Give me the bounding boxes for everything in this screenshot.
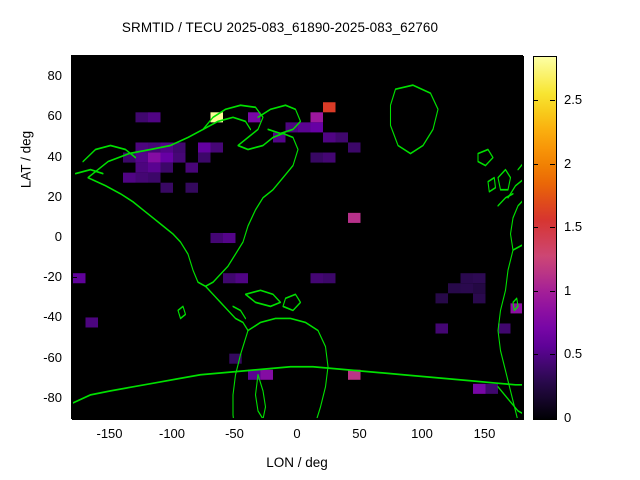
x-tick-mark <box>297 413 298 418</box>
colorbar-tick-mark <box>533 418 538 419</box>
colorbar-tick-mark <box>550 227 555 228</box>
chart-canvas: SRMTID / TECU 2025-083_61890-2025-083_62… <box>0 0 640 480</box>
y-tick-mark <box>72 116 77 117</box>
y-tick-mark <box>72 317 77 318</box>
x-tick-label: -100 <box>137 426 207 441</box>
colorbar-tick-mark <box>533 164 538 165</box>
colorbar-tick-mark <box>550 418 555 419</box>
x-tick-mark <box>235 413 236 418</box>
y-tick-label: 0 <box>2 229 62 244</box>
x-tick-mark <box>360 56 361 61</box>
x-tick-mark <box>297 56 298 61</box>
y-tick-mark <box>517 116 522 117</box>
colorbar-tick-label: 0.5 <box>564 346 604 361</box>
colorbar-tick-label: 2 <box>564 156 604 171</box>
y-tick-mark <box>72 76 77 77</box>
x-tick-mark <box>235 56 236 61</box>
chart-title: SRMTID / TECU 2025-083_61890-2025-083_62… <box>0 20 560 35</box>
y-tick-label: -80 <box>2 390 62 405</box>
y-tick-mark <box>72 358 77 359</box>
x-tick-mark <box>172 413 173 418</box>
y-tick-mark <box>517 277 522 278</box>
y-tick-mark <box>517 157 522 158</box>
x-tick-mark <box>110 413 111 418</box>
map-plot-area <box>72 56 524 420</box>
colorbar-gradient <box>534 57 556 419</box>
y-tick-mark <box>72 157 77 158</box>
y-tick-mark <box>72 197 77 198</box>
colorbar-tick-mark <box>533 354 538 355</box>
y-tick-label: -20 <box>2 269 62 284</box>
colorbar-tick-mark <box>550 354 555 355</box>
y-tick-mark <box>72 398 77 399</box>
x-tick-mark <box>485 413 486 418</box>
x-tick-label: -150 <box>75 426 145 441</box>
y-tick-label: -40 <box>2 309 62 324</box>
y-tick-label: 80 <box>2 68 62 83</box>
y-tick-mark <box>517 317 522 318</box>
colorbar-tick-mark <box>550 100 555 101</box>
colorbar-tick-label: 2.5 <box>564 92 604 107</box>
y-tick-label: 20 <box>2 189 62 204</box>
colorbar <box>533 56 557 420</box>
colorbar-tick-mark <box>550 164 555 165</box>
colorbar-tick-mark <box>550 291 555 292</box>
y-tick-label: -60 <box>2 350 62 365</box>
x-tick-mark <box>422 56 423 61</box>
colorbar-tick-mark <box>533 291 538 292</box>
y-tick-mark <box>517 358 522 359</box>
y-tick-mark <box>72 277 77 278</box>
x-tick-mark <box>110 56 111 61</box>
colorbar-tick-label: 1 <box>564 283 604 298</box>
coastline-layer <box>73 57 523 419</box>
y-tick-label: 40 <box>2 149 62 164</box>
x-tick-mark <box>485 56 486 61</box>
colorbar-tick-mark <box>533 100 538 101</box>
y-tick-mark <box>517 237 522 238</box>
y-tick-mark <box>72 237 77 238</box>
colorbar-tick-mark <box>533 227 538 228</box>
x-tick-label: -50 <box>200 426 270 441</box>
x-tick-mark <box>360 413 361 418</box>
x-tick-mark <box>172 56 173 61</box>
colorbar-tick-label: 1.5 <box>564 219 604 234</box>
x-tick-label: 50 <box>325 426 395 441</box>
x-tick-label: 100 <box>387 426 457 441</box>
y-tick-mark <box>517 398 522 399</box>
x-axis-label: LON / deg <box>72 455 522 470</box>
x-tick-mark <box>422 413 423 418</box>
x-tick-label: 150 <box>450 426 520 441</box>
y-tick-mark <box>517 197 522 198</box>
y-tick-mark <box>517 76 522 77</box>
colorbar-tick-label: 0 <box>564 410 604 425</box>
x-tick-label: 0 <box>262 426 332 441</box>
y-tick-label: 60 <box>2 108 62 123</box>
